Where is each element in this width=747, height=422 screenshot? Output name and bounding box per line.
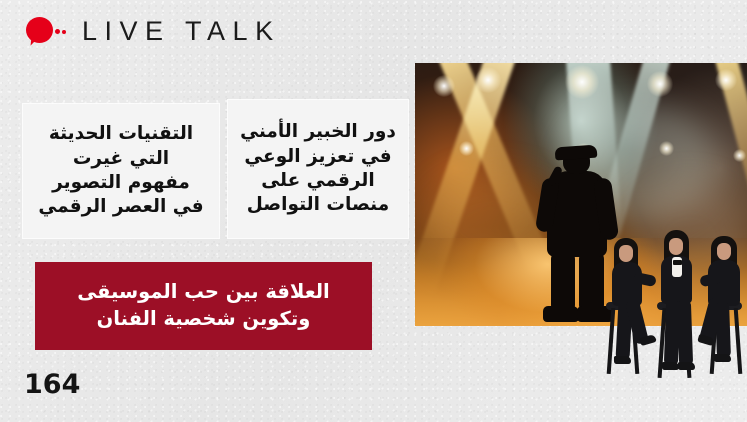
slide-canvas: LIVE TALK التقنيات الحديثة التي غيرت مفه… xyxy=(0,0,747,422)
headline-security-text: دور الخبير الأمني في تعزيز الوعي الرقمي … xyxy=(240,120,396,218)
spotlight-3 xyxy=(565,65,599,99)
speech-bubble-dot-2 xyxy=(62,30,66,34)
spotlight-5 xyxy=(715,69,737,91)
guest-right xyxy=(698,236,747,378)
spotlight-9 xyxy=(733,149,746,162)
headline-technology-text: التقنيات الحديثة التي غيرت مفهوم التصوير… xyxy=(38,122,203,220)
speech-bubble-dot-1 xyxy=(55,29,60,34)
brand-name: LIVE TALK xyxy=(82,18,281,45)
speech-bubble-body xyxy=(26,17,53,43)
headline-card-technology[interactable]: التقنيات الحديثة التي غيرت مفهوم التصوير… xyxy=(23,104,219,238)
spotlight-6 xyxy=(459,141,474,156)
headline-card-security[interactable]: دور الخبير الأمني في تعزيز الوعي الرقمي … xyxy=(228,100,408,238)
brand-logo[interactable]: LIVE TALK xyxy=(26,9,281,53)
page-number: 164 xyxy=(24,369,80,400)
guest-center xyxy=(647,230,705,382)
spotlight-4 xyxy=(647,71,673,97)
spotlight-8 xyxy=(659,141,674,156)
spotlight-1 xyxy=(433,75,455,97)
spotlight-2 xyxy=(475,67,501,93)
seated-guests-group xyxy=(590,228,747,378)
speech-bubble-tail xyxy=(31,37,39,47)
headline-music-text: العلاقة بين حب الموسيقى وتكوين شخصية الف… xyxy=(77,279,330,333)
speech-bubble-icon xyxy=(26,14,68,48)
headline-banner-music[interactable]: العلاقة بين حب الموسيقى وتكوين شخصية الف… xyxy=(35,262,372,350)
